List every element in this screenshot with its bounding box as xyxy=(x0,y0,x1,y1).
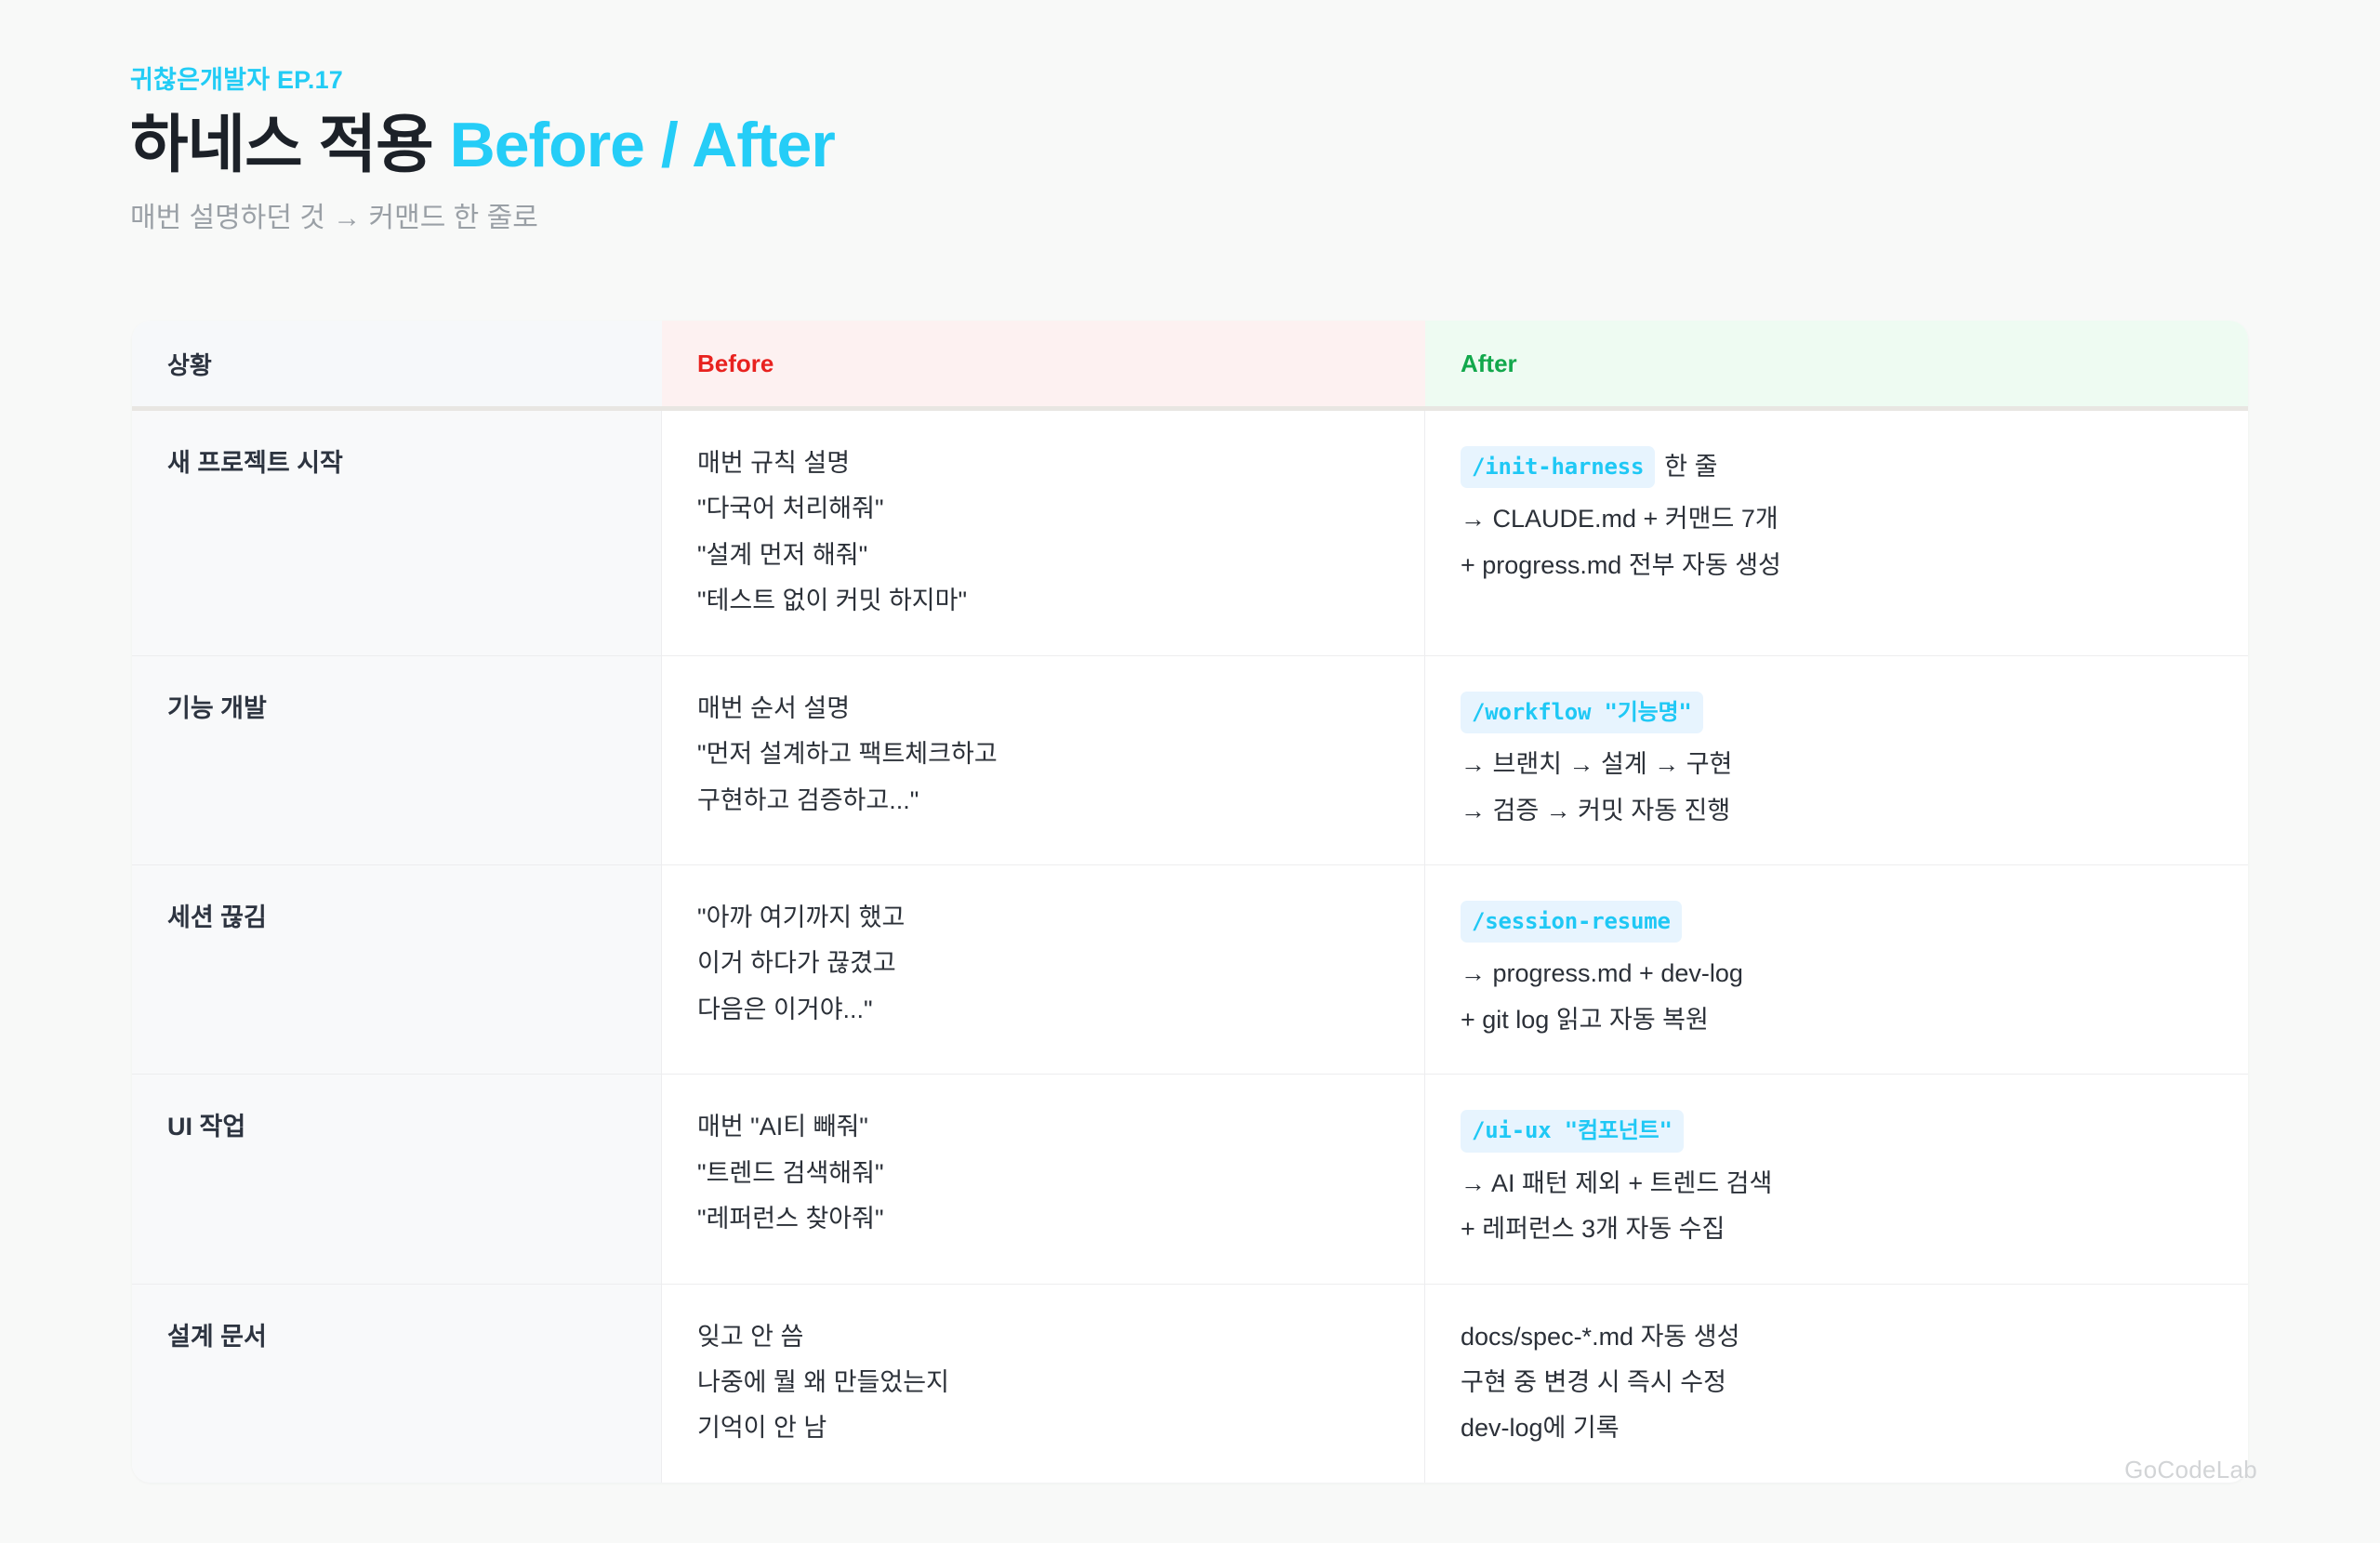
page-subtitle: 매번 설명하던 것 → 커맨드 한 줄로 xyxy=(130,200,1990,236)
table-body: 새 프로젝트 시작 매번 규칙 설명 "다국어 처리해줘" "설계 먼저 해줘"… xyxy=(132,411,2248,1483)
before-line: "레퍼런스 찾아줘" xyxy=(697,1202,1389,1235)
episode-eyebrow: 귀찮은개발자 EP.17 xyxy=(130,67,1990,95)
before-line: 나중에 뭘 왜 만들었는지 xyxy=(697,1365,1389,1399)
before-line: 잊고 안 씀 xyxy=(697,1320,1389,1353)
before-line: "트렌드 검색해줘" xyxy=(697,1156,1389,1190)
command-chip-suffix: 한 줄 xyxy=(1664,450,1717,483)
table-row: UI 작업 매번 "AI티 빼줘" "트렌드 검색해줘" "레퍼런스 찾아줘" … xyxy=(132,1075,2248,1284)
cell-before: "아까 여기까지 했고 이거 하다가 끊겼고 다음은 이거야..." xyxy=(662,865,1425,1074)
after-command-line: /ui-ux "컴포넌트" xyxy=(1461,1110,2213,1152)
table-row: 새 프로젝트 시작 매번 규칙 설명 "다국어 처리해줘" "설계 먼저 해줘"… xyxy=(132,411,2248,656)
column-header-situation: 상황 xyxy=(132,321,662,406)
after-line: → AI 패턴 제외 + 트렌드 검색 xyxy=(1461,1167,2213,1200)
table-row: 기능 개발 매번 순서 설명 "먼저 설계하고 팩트체크하고 구현하고 검증하고… xyxy=(132,656,2248,865)
cell-after: /workflow "기능명" → 브랜치 → 설계 → 구현 → 검증 → 커… xyxy=(1425,656,2248,864)
column-header-after: After xyxy=(1425,321,2248,406)
before-line: 매번 순서 설명 xyxy=(697,692,1389,725)
after-line: → 검증 → 커밋 자동 진행 xyxy=(1461,794,2213,827)
page-title-accent: Before / After xyxy=(450,110,835,180)
page-title-main: 하네스 적용 xyxy=(130,110,450,180)
before-line: "다국어 처리해줘" xyxy=(697,492,1389,525)
cell-situation: 설계 문서 xyxy=(132,1285,662,1483)
command-chip: /session-resume xyxy=(1461,901,1682,943)
before-line: 이거 하다가 끊겼고 xyxy=(697,946,1389,980)
cell-after: /ui-ux "컴포넌트" → AI 패턴 제외 + 트렌드 검색 + 레퍼런스… xyxy=(1425,1075,2248,1283)
after-command-line: /init-harness한 줄 xyxy=(1461,446,2213,488)
before-line: "먼저 설계하고 팩트체크하고 xyxy=(697,737,1389,771)
cell-before: 잊고 안 씀 나중에 뭘 왜 만들었는지 기억이 안 남 xyxy=(662,1285,1425,1483)
command-chip: /workflow "기능명" xyxy=(1461,692,1703,733)
cell-before: 매번 "AI티 빼줘" "트렌드 검색해줘" "레퍼런스 찾아줘" xyxy=(662,1075,1425,1283)
cell-before: 매번 규칙 설명 "다국어 처리해줘" "설계 먼저 해줘" "테스트 없이 커… xyxy=(662,411,1425,655)
cell-after: /init-harness한 줄 → CLAUDE.md + 커맨드 7개 + … xyxy=(1425,411,2248,655)
brand-watermark: GoCodeLab xyxy=(2124,1456,2257,1484)
cell-situation: 새 프로젝트 시작 xyxy=(132,411,662,655)
command-chip: /ui-ux "컴포넌트" xyxy=(1461,1110,1684,1152)
after-line: 구현 중 변경 시 즉시 수정 xyxy=(1461,1365,2213,1399)
after-line: dev-log에 기록 xyxy=(1461,1411,2213,1444)
before-line: "아까 여기까지 했고 xyxy=(697,901,1389,934)
table-row: 세션 끊김 "아까 여기까지 했고 이거 하다가 끊겼고 다음은 이거야..."… xyxy=(132,865,2248,1075)
slide-root: 귀찮은개발자 EP.17 하네스 적용 Before / After 매번 설명… xyxy=(0,0,2380,1543)
before-line: 매번 "AI티 빼줘" xyxy=(697,1110,1389,1143)
table-row: 설계 문서 잊고 안 씀 나중에 뭘 왜 만들었는지 기억이 안 남 docs/… xyxy=(132,1285,2248,1483)
after-command-line: /session-resume xyxy=(1461,901,2213,943)
before-line: 구현하고 검증하고..." xyxy=(697,784,1389,817)
page-title: 하네스 적용 Before / After xyxy=(130,112,1990,179)
cell-situation: UI 작업 xyxy=(132,1075,662,1283)
before-line: 매번 규칙 설명 xyxy=(697,446,1389,480)
cell-before: 매번 순서 설명 "먼저 설계하고 팩트체크하고 구현하고 검증하고..." xyxy=(662,656,1425,864)
after-line: + git log 읽고 자동 복원 xyxy=(1461,1003,2213,1036)
after-command-line: /workflow "기능명" xyxy=(1461,692,2213,733)
after-line: + 레퍼런스 3개 자동 수집 xyxy=(1461,1212,2213,1246)
slide-header: 귀찮은개발자 EP.17 하네스 적용 Before / After 매번 설명… xyxy=(130,67,1990,236)
cell-situation: 세션 끊김 xyxy=(132,865,662,1074)
before-line: 기억이 안 남 xyxy=(697,1411,1389,1444)
after-line: → progress.md + dev-log xyxy=(1461,956,2213,990)
comparison-table: 상황 Before After 새 프로젝트 시작 매번 규칙 설명 "다국어 … xyxy=(132,321,2248,1483)
before-line: "설계 먼저 해줘" xyxy=(697,538,1389,572)
cell-after: /session-resume → progress.md + dev-log … xyxy=(1425,865,2248,1074)
after-line: → 브랜치 → 설계 → 구현 xyxy=(1461,747,2213,781)
column-header-before: Before xyxy=(662,321,1425,406)
before-line: "테스트 없이 커밋 하지마" xyxy=(697,584,1389,617)
after-line: → CLAUDE.md + 커맨드 7개 xyxy=(1461,502,2213,535)
cell-situation: 기능 개발 xyxy=(132,656,662,864)
before-line: 다음은 이거야..." xyxy=(697,993,1389,1026)
after-line: + progress.md 전부 자동 생성 xyxy=(1461,548,2213,582)
cell-after: docs/spec-*.md 자동 생성 구현 중 변경 시 즉시 수정 dev… xyxy=(1425,1285,2248,1483)
table-header-row: 상황 Before After xyxy=(132,321,2248,411)
command-chip: /init-harness xyxy=(1461,446,1655,488)
after-line: docs/spec-*.md 자동 생성 xyxy=(1461,1320,2213,1353)
